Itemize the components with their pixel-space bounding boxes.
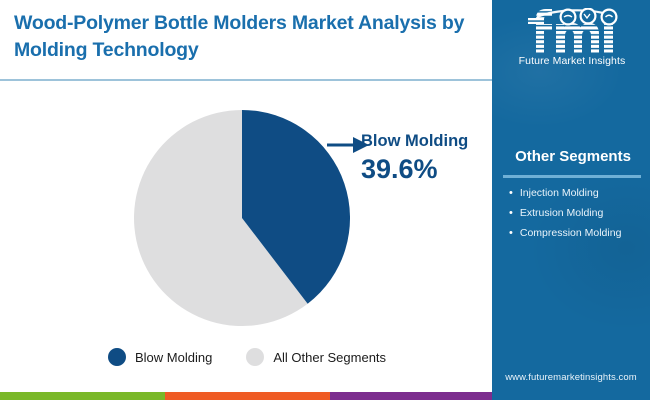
other-segments-block: Other Segments • Injection Molding • Ext… [503, 148, 643, 246]
bar-segment-purple [330, 392, 492, 400]
list-item-label: Extrusion Molding [520, 206, 603, 220]
bar-segment-orange [165, 392, 330, 400]
header-divider [0, 79, 492, 81]
bullet-icon: • [509, 226, 513, 241]
other-segments-title: Other Segments [503, 148, 643, 166]
callout-block: Blow Molding 39.6% [361, 132, 496, 183]
list-item: • Injection Molding [509, 186, 643, 201]
bar-segment-green [0, 392, 165, 400]
list-item-label: Injection Molding [520, 186, 599, 200]
right-side-panel: Future Market Insights Other Segments • … [492, 0, 650, 400]
legend-item-blow-molding: Blow Molding [108, 348, 212, 366]
bullet-icon: • [509, 206, 513, 221]
fmi-tagline: Future Market Insights [506, 55, 638, 67]
other-segments-divider [503, 175, 641, 178]
pie-chart [134, 110, 350, 326]
list-item-label: Compression Molding [520, 226, 622, 240]
legend-label: All Other Segments [273, 350, 386, 365]
legend-item-all-other-segments: All Other Segments [246, 348, 386, 366]
callout-value: 39.6% [361, 155, 496, 183]
legend-label: Blow Molding [135, 350, 212, 365]
infographic-root: Wood-Polymer Bottle Molders Market Analy… [0, 0, 650, 400]
website-url[interactable]: www.futuremarketinsights.com [492, 372, 650, 383]
chart-legend: Blow Molding All Other Segments [108, 348, 386, 366]
bottom-color-bar [0, 392, 492, 400]
page-title: Wood-Polymer Bottle Molders Market Analy… [14, 10, 474, 64]
fmi-logo-icon [506, 8, 638, 54]
list-item: • Compression Molding [509, 226, 643, 241]
title-block: Wood-Polymer Bottle Molders Market Analy… [14, 10, 474, 64]
bullet-icon: • [509, 186, 513, 201]
legend-swatch-icon [246, 348, 264, 366]
fmi-logo[interactable]: Future Market Insights [506, 8, 638, 72]
main-content-area: Wood-Polymer Bottle Molders Market Analy… [0, 0, 492, 392]
legend-swatch-icon [108, 348, 126, 366]
other-segments-list: • Injection Molding • Extrusion Molding … [503, 186, 643, 241]
pie-chart-svg [134, 110, 350, 326]
list-item: • Extrusion Molding [509, 206, 643, 221]
callout-label: Blow Molding [361, 132, 496, 150]
